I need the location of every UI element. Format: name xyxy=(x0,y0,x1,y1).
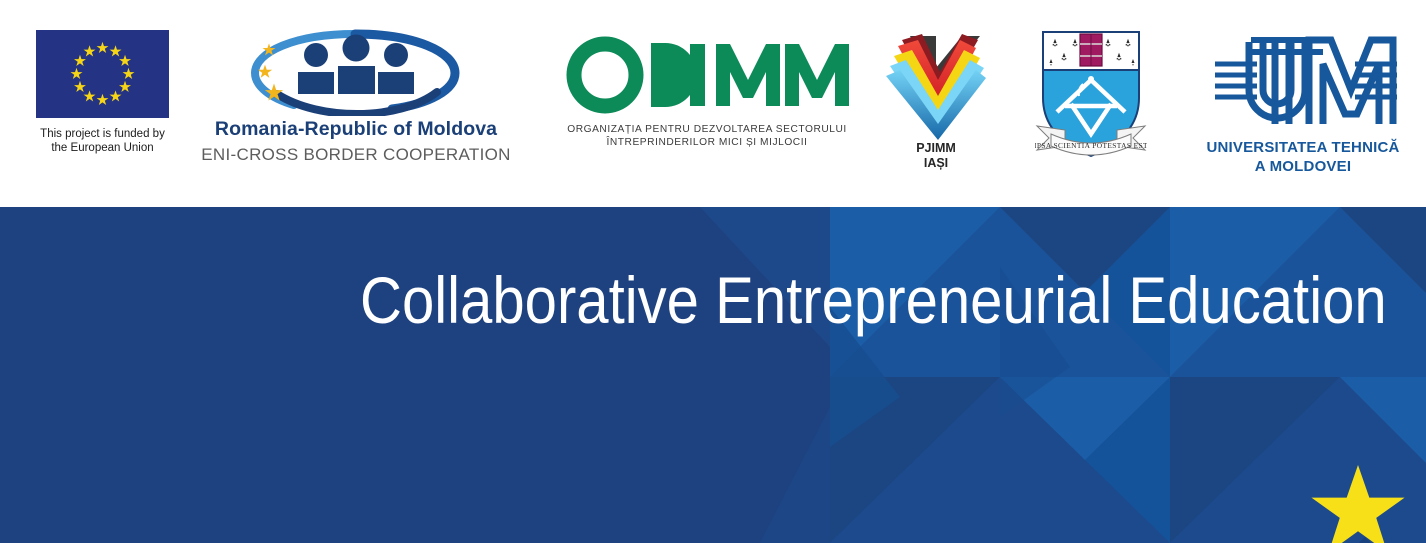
pjimm-caption-line-1: PJIMM xyxy=(916,141,956,156)
logo-utm: UNIVERSITATEA TEHNICĂ A MOLDOVEI xyxy=(1196,28,1410,176)
hero-banner: Collaborative Entrepreneurial Education xyxy=(0,207,1426,543)
banner-page: This project is funded by the European U… xyxy=(0,0,1426,543)
logo-coat-of-arms: IPSA SCIENTIA POTESTAS EST xyxy=(1026,26,1156,164)
hero-title-wrapper: Collaborative Entrepreneurial Education xyxy=(0,207,1426,543)
logo-romania-moldova: Romania-Republic of Moldova ENI-CROSS BO… xyxy=(196,28,516,165)
eu-caption-line-1: This project is funded by xyxy=(40,127,165,141)
coat-of-arms-shield-icon: IPSA SCIENTIA POTESTAS EST xyxy=(1035,26,1147,164)
eu-flag-icon xyxy=(36,30,169,118)
coat-of-arms-motto: IPSA SCIENTIA POTESTAS EST xyxy=(1035,141,1147,150)
odimm-wordmark-icon xyxy=(564,36,850,119)
partner-logo-bar: This project is funded by the European U… xyxy=(0,0,1426,207)
cross-border-cooperation-icon xyxy=(237,28,475,116)
pjimm-chevron-icon xyxy=(884,28,988,140)
utm-caption-line-2: A MOLDOVEI xyxy=(1206,157,1399,176)
utm-caption-line-1: UNIVERSITATEA TEHNICĂ xyxy=(1206,138,1399,157)
odimm-subtitle-line-1: ORGANIZAȚIA PENTRU DEZVOLTAREA SECTORULU… xyxy=(567,123,847,136)
pjimm-caption-line-2: IAȘI xyxy=(916,156,956,171)
logo-pjimm-iasi: PJIMM IAȘI xyxy=(876,28,996,171)
romania-moldova-subtitle: ENI-CROSS BORDER COOPERATION xyxy=(201,145,510,165)
logo-odimm: ORGANIZAȚIA PENTRU DEZVOLTAREA SECTORULU… xyxy=(552,36,862,149)
utm-monogram-icon xyxy=(1205,28,1401,132)
utm-caption: UNIVERSITATEA TEHNICĂ A MOLDOVEI xyxy=(1206,138,1399,176)
odimm-subtitle-line-2: ÎNTREPRINDERILOR MICI ȘI MIJLOCII xyxy=(567,136,847,149)
pjimm-caption: PJIMM IAȘI xyxy=(916,141,956,171)
eu-funding-caption: This project is funded by the European U… xyxy=(40,127,165,155)
eu-stars-circle xyxy=(36,30,169,118)
romania-moldova-title: Romania-Republic of Moldova xyxy=(215,118,497,141)
page-title: Collaborative Entrepreneurial Education xyxy=(360,267,1387,333)
eu-caption-line-2: the European Union xyxy=(40,141,165,155)
logo-european-union: This project is funded by the European U… xyxy=(20,30,185,155)
odimm-subtitle: ORGANIZAȚIA PENTRU DEZVOLTAREA SECTORULU… xyxy=(567,123,847,149)
